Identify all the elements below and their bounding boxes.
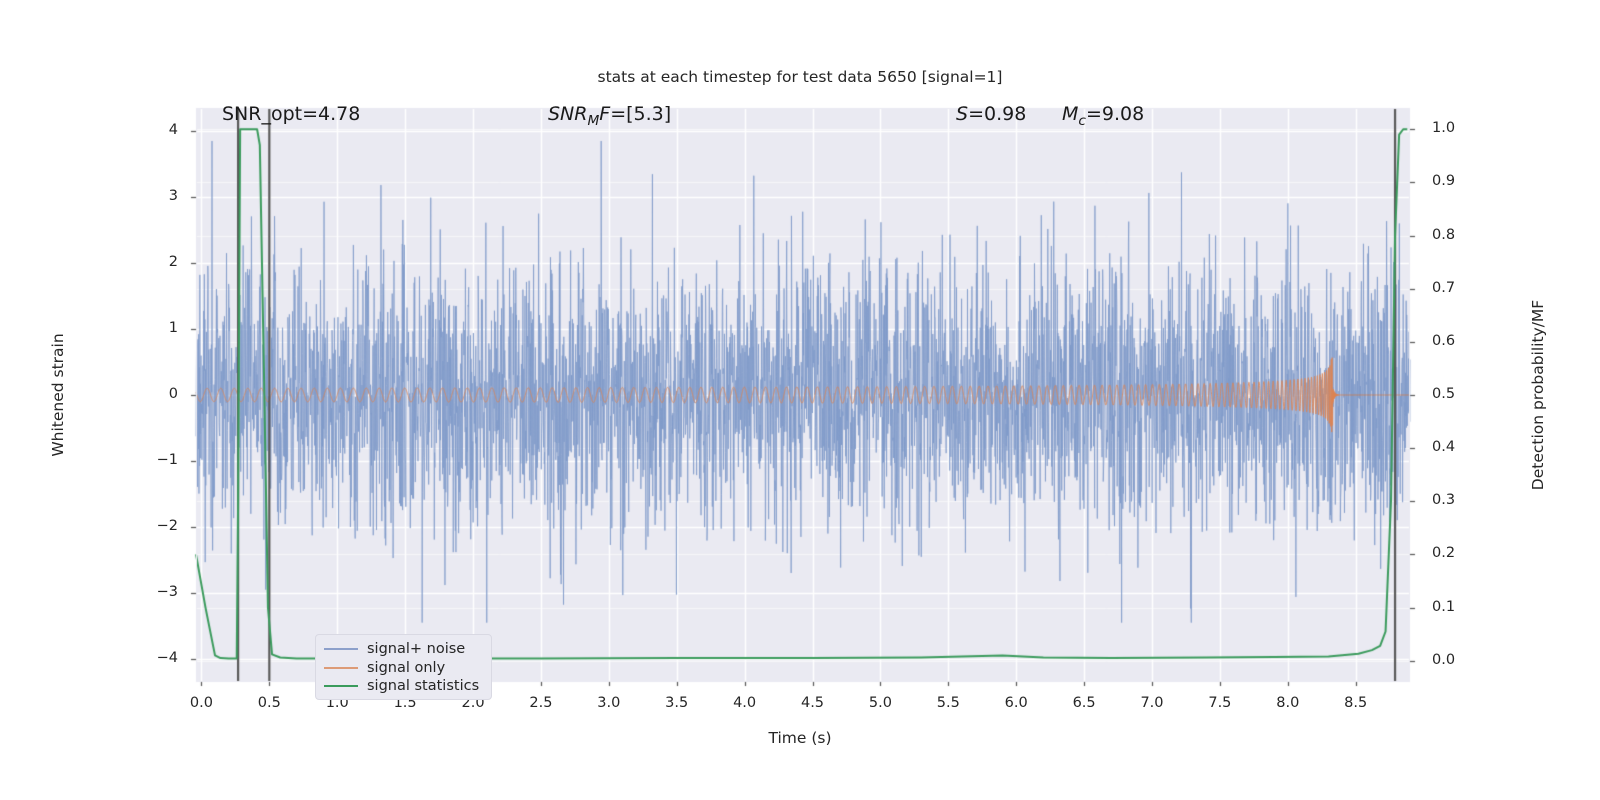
y-tick-label-left: −3 — [98, 584, 178, 600]
annotation-s-stat: S=0.98 — [956, 103, 1026, 125]
y-tick-label-right: 0.1 — [1432, 599, 1502, 615]
chart-title: stats at each timestep for test data 565… — [0, 68, 1600, 86]
y-tick-label-right: 0.8 — [1432, 227, 1502, 243]
y-tick-label-right: 1.0 — [1432, 120, 1502, 136]
legend-item: signal+ noise — [324, 640, 483, 659]
legend-swatch-signal-noise — [324, 648, 358, 650]
y-tick-label-right: 0.2 — [1432, 545, 1502, 561]
y-axis-label-left: Whitened strain — [49, 275, 67, 515]
y-tick-label-left: 2 — [98, 254, 178, 270]
legend-item: signal statistics — [324, 677, 483, 696]
y-tick-label-right: 0.5 — [1432, 386, 1502, 402]
legend-swatch-signal-statistics — [324, 685, 358, 687]
y-axis-label-right: Detection probability/MF — [1529, 275, 1547, 515]
y-tick-label-left: −1 — [98, 452, 178, 468]
annotation-snr-mf: SNRMF=[5.3] — [548, 103, 671, 129]
y-tick-label-right: 0.3 — [1432, 492, 1502, 508]
y-tick-label-left: 4 — [98, 122, 178, 138]
y-tick-label-right: 0.7 — [1432, 280, 1502, 296]
legend-swatch-signal-only — [324, 667, 358, 669]
y-tick-label-right: 0.9 — [1432, 173, 1502, 189]
x-axis-label: Time (s) — [0, 729, 1600, 747]
y-tick-label-left: 1 — [98, 320, 178, 336]
annotation-snr-opt: SNR_opt=4.78 — [222, 103, 360, 125]
y-tick-label-right: 0.6 — [1432, 333, 1502, 349]
x-tick-label: 8.5 — [1316, 695, 1396, 711]
y-tick-label-left: 0 — [98, 386, 178, 402]
annotation-chirp-mass: Mc=9.08 — [1062, 103, 1144, 129]
legend-label-signal-only: signal only — [367, 659, 445, 677]
gravitational-wave-stats-figure: stats at each timestep for test data 565… — [0, 0, 1600, 800]
y-tick-label-left: −4 — [98, 650, 178, 666]
y-tick-label-right: 0.4 — [1432, 439, 1502, 455]
legend-label-signal-statistics: signal statistics — [367, 677, 479, 695]
legend-item: signal only — [324, 659, 483, 678]
chart-legend: signal+ noise signal only signal statist… — [315, 634, 492, 700]
y-tick-label-right: 0.0 — [1432, 652, 1502, 668]
y-tick-label-left: −2 — [98, 518, 178, 534]
y-tick-label-left: 3 — [98, 188, 178, 204]
legend-label-signal-noise: signal+ noise — [367, 640, 465, 658]
